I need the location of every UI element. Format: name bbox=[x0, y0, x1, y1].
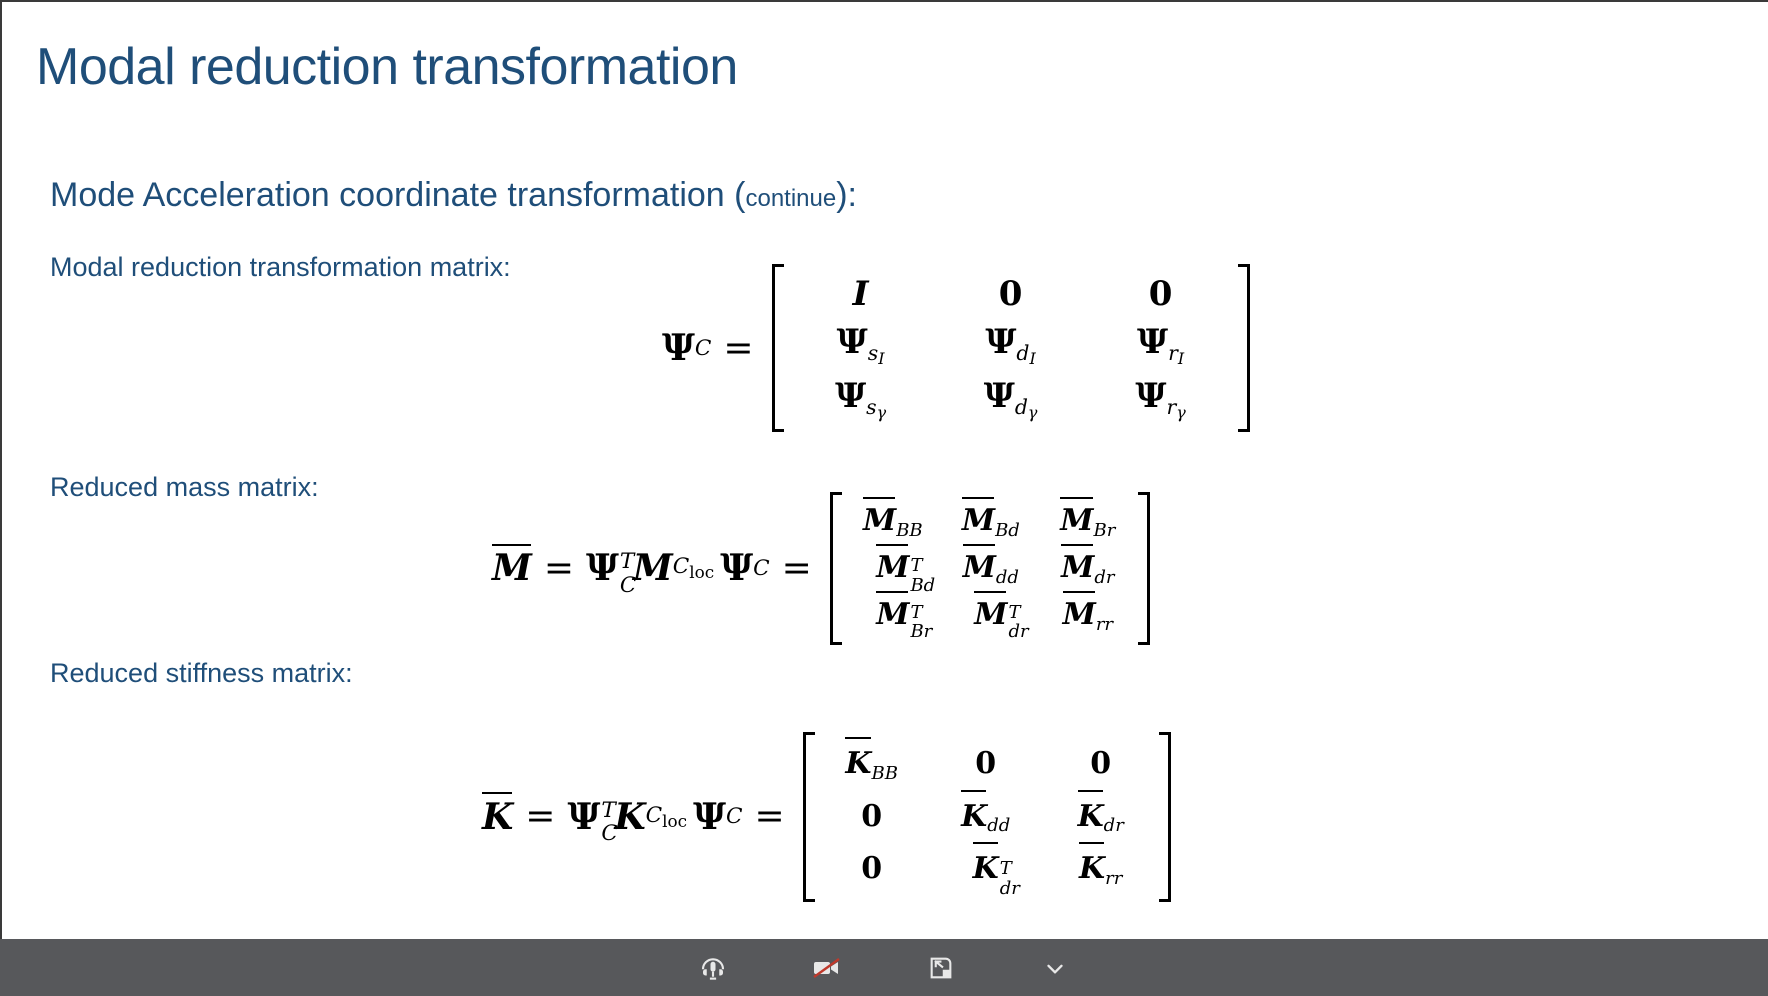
bracket-right bbox=[1159, 732, 1171, 902]
k-bar-symbol: K bbox=[482, 796, 513, 838]
equation-reduced-mass-matrix: M = ΨTCMClocΨC = MBB MBd MBr MTBd Mdd Md… bbox=[492, 492, 1150, 645]
equals-sign: = bbox=[544, 548, 574, 589]
matrix-cell: MBd bbox=[942, 498, 1040, 545]
m-symbol: M bbox=[633, 547, 673, 589]
headset-mic-icon[interactable] bbox=[687, 946, 739, 990]
matrix-cell: KTdr bbox=[927, 843, 1045, 896]
restore-window-icon[interactable] bbox=[915, 946, 967, 990]
label-reduced-stiffness-matrix: Reduced stiffness matrix: bbox=[50, 656, 353, 690]
matrix-cell: Ψdγ bbox=[936, 372, 1086, 426]
matrix-cell: Mrr bbox=[1040, 592, 1136, 639]
matrix-cell: I bbox=[786, 270, 936, 318]
psi-symbol: Ψ bbox=[662, 327, 695, 369]
matrix-cell: MTBr bbox=[844, 592, 942, 639]
matrix-cell: Ψrγ bbox=[1086, 372, 1236, 426]
matrix-cell: Krr bbox=[1045, 843, 1157, 896]
matrix-cell: MTBd bbox=[844, 545, 942, 592]
psi-symbol-2: Ψ bbox=[720, 547, 753, 589]
matrix-cell: MBr bbox=[1040, 498, 1136, 545]
matrix-psi-c: I 0 0 ΨsI ΨdI ΨrI Ψsγ Ψdγ Ψrγ bbox=[772, 264, 1250, 432]
slide-subtitle: Mode Acceleration coordinate transformat… bbox=[50, 174, 857, 220]
matrix-cell: KBB bbox=[817, 738, 927, 791]
matrix-k-bar: KBB 0 0 0 Kdd Kdr 0 KTdr Krr bbox=[803, 732, 1171, 902]
matrix-m-bar: MBB MBd MBr MTBd Mdd Mdr MTBr MTdr Mrr bbox=[830, 492, 1150, 645]
equation-lhs: M = ΨTCMClocΨC = bbox=[492, 547, 824, 589]
chevron-down-icon[interactable] bbox=[1029, 946, 1081, 990]
label-reduced-mass-matrix: Reduced mass matrix: bbox=[50, 470, 319, 504]
matrix-grid: KBB 0 0 0 Kdd Kdr 0 KTdr Krr bbox=[815, 732, 1159, 902]
equals-sign-2: = bbox=[755, 796, 785, 837]
bracket-left bbox=[803, 732, 815, 902]
psi-symbol: Ψ bbox=[567, 796, 600, 838]
equation-lhs: ΨC = bbox=[662, 327, 766, 369]
equation-lhs: K = ΨTCKClocΨC = bbox=[482, 796, 797, 838]
slide-root: Modal reduction transformation Mode Acce… bbox=[0, 0, 1768, 996]
matrix-cell: 0 bbox=[1045, 738, 1157, 791]
psi-subscript-c: C bbox=[695, 336, 712, 361]
camera-off-icon[interactable] bbox=[801, 946, 853, 990]
bracket-right bbox=[1238, 264, 1250, 432]
page-title: Modal reduction transformation bbox=[36, 36, 738, 98]
matrix-cell: Kdd bbox=[927, 791, 1045, 844]
matrix-cell: 0 bbox=[817, 791, 927, 844]
matrix-cell: ΨrI bbox=[1086, 318, 1236, 372]
matrix-cell: 0 bbox=[1086, 270, 1236, 318]
matrix-cell: Mdd bbox=[942, 545, 1040, 592]
psi-symbol: Ψ bbox=[586, 547, 619, 589]
bracket-left bbox=[830, 492, 842, 645]
equation-modal-reduction-transformation: ΨC = I 0 0 ΨsI ΨdI ΨrI Ψsγ Ψdγ Ψrγ bbox=[662, 264, 1250, 432]
matrix-cell: Kdr bbox=[1045, 791, 1157, 844]
matrix-cell: ΨsI bbox=[786, 318, 936, 372]
matrix-cell: 0 bbox=[936, 270, 1086, 318]
equals-sign-2: = bbox=[782, 548, 812, 589]
matrix-cell: Ψsγ bbox=[786, 372, 936, 426]
equals-sign: = bbox=[723, 328, 753, 369]
psi-symbol-2: Ψ bbox=[693, 796, 726, 838]
k-symbol: K bbox=[614, 796, 645, 838]
bracket-right bbox=[1138, 492, 1150, 645]
matrix-cell: MTdr bbox=[942, 592, 1040, 639]
matrix-cell: 0 bbox=[927, 738, 1045, 791]
matrix-cell: MBB bbox=[844, 498, 942, 545]
equation-reduced-stiffness-matrix: K = ΨTCKClocΨC = KBB 0 0 0 Kdd Kdr 0 KTd… bbox=[482, 732, 1171, 902]
subtitle-continue: continue bbox=[745, 185, 836, 212]
matrix-grid: MBB MBd MBr MTBd Mdd Mdr MTBr MTdr Mrr bbox=[842, 492, 1138, 645]
matrix-cell: ΨdI bbox=[936, 318, 1086, 372]
subtitle-main: Mode Acceleration coordinate transformat… bbox=[50, 176, 745, 214]
matrix-cell: 0 bbox=[817, 843, 927, 896]
label-transformation-matrix: Modal reduction transformation matrix: bbox=[50, 250, 511, 284]
bracket-left bbox=[772, 264, 784, 432]
equals-sign: = bbox=[525, 796, 555, 837]
subtitle-end: ): bbox=[836, 176, 857, 214]
meeting-toolbar bbox=[0, 939, 1768, 996]
matrix-cell: Mdr bbox=[1040, 545, 1136, 592]
matrix-grid: I 0 0 ΨsI ΨdI ΨrI Ψsγ Ψdγ Ψrγ bbox=[784, 264, 1238, 432]
m-bar-symbol: M bbox=[492, 547, 532, 589]
